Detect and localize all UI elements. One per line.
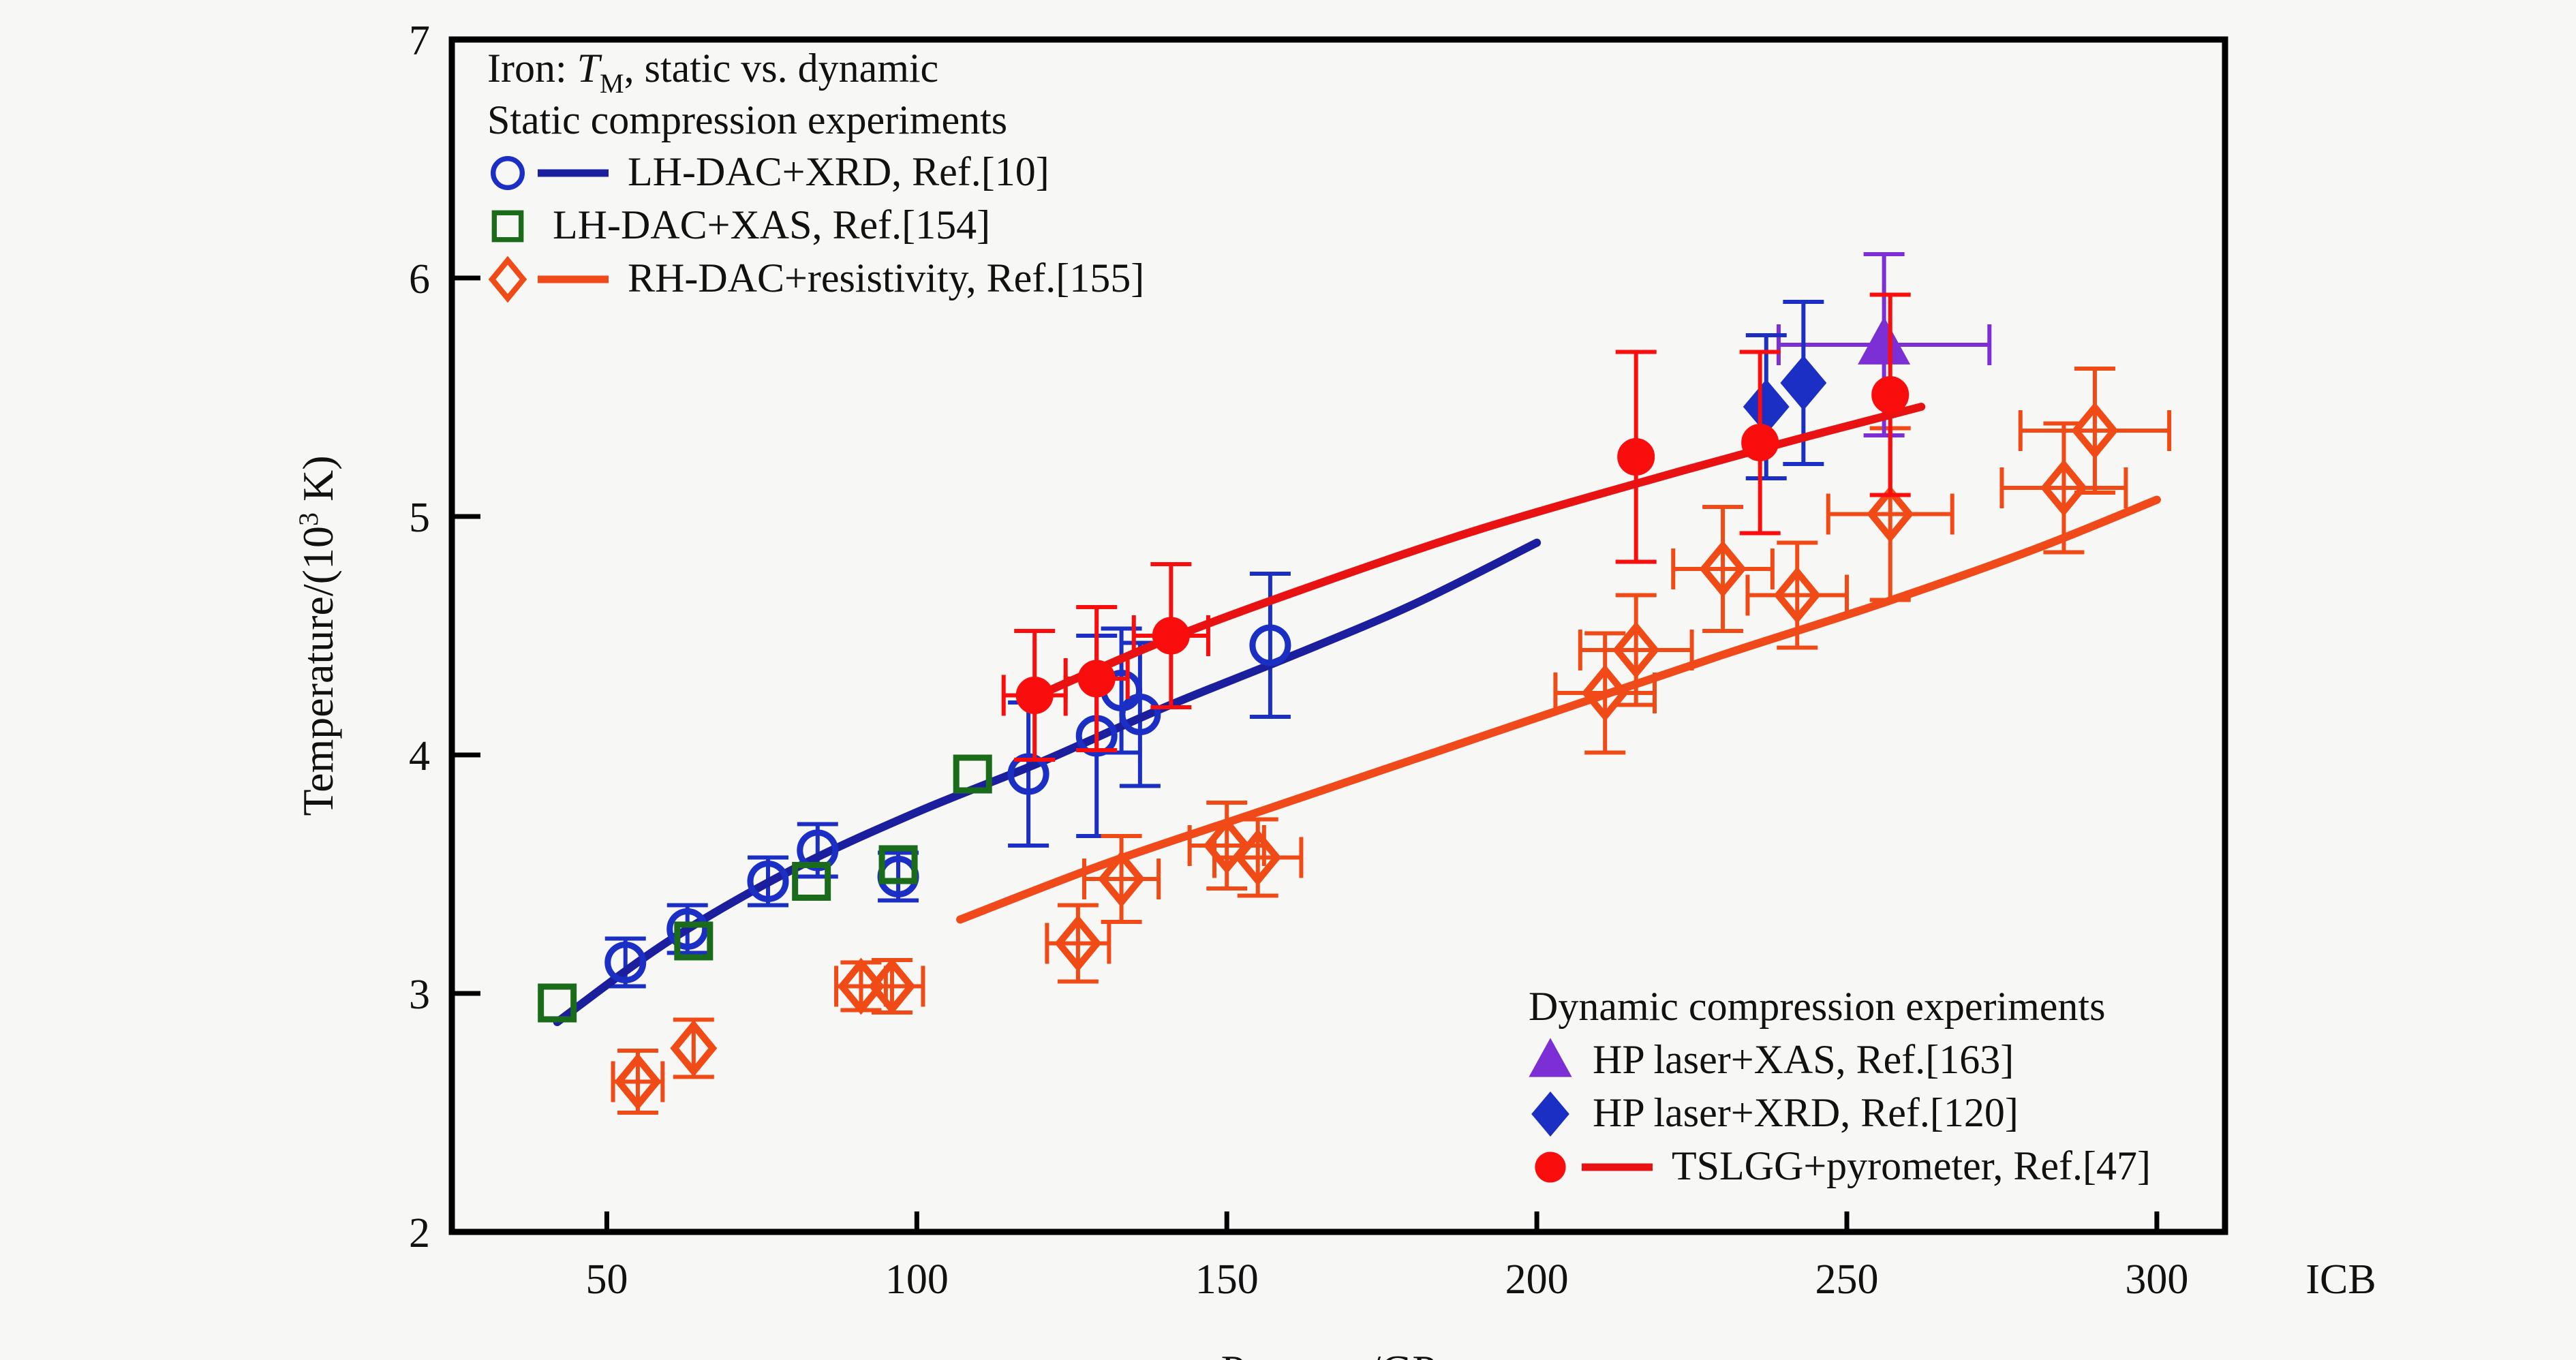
legend-dynamic-heading: Dynamic compression experiments <box>1529 984 2105 1029</box>
data-point <box>1017 678 1052 713</box>
y-tick-label: 5 <box>409 495 430 541</box>
y-tick-label: 4 <box>409 733 430 779</box>
x-tick-label: 150 <box>1195 1256 1259 1303</box>
legend-marker-filled-circle <box>1536 1153 1565 1182</box>
x-tick-label: 200 <box>1505 1256 1569 1303</box>
legend-static-entry-label: LH-DAC+XAS, Ref.[154] <box>553 202 990 247</box>
data-point <box>1153 618 1189 653</box>
x-tick-label: 50 <box>585 1256 628 1303</box>
y-tick-label: 7 <box>409 18 430 64</box>
y-axis-title: Temperature/(103 K) <box>293 455 342 816</box>
data-point <box>1743 425 1778 461</box>
data-point <box>1079 661 1114 696</box>
chart-canvas: 50100150200250300ICB234567Pressure/GPaTe… <box>0 0 2576 1360</box>
legend-static-entry-label: LH-DAC+XRD, Ref.[10] <box>628 149 1049 194</box>
legend-dynamic-entry-label: TSLGG+pyrometer, Ref.[47] <box>1672 1143 2151 1188</box>
legend-dynamic-entry-label: HP laser+XAS, Ref.[163] <box>1593 1037 2014 1082</box>
y-tick-label: 3 <box>409 972 430 1018</box>
data-point <box>1619 439 1654 475</box>
y-tick-label: 2 <box>409 1210 430 1256</box>
x-axis-title: Pressure/GPa <box>1221 1346 1456 1360</box>
legend-dynamic-entry-label: HP laser+XRD, Ref.[120] <box>1593 1090 2019 1135</box>
legend-static-heading: Static compression experiments <box>487 97 1007 142</box>
x-axis-icb-label: ICB <box>2305 1256 2376 1303</box>
x-tick-label: 300 <box>2125 1256 2188 1303</box>
x-tick-label: 100 <box>885 1256 949 1303</box>
x-tick-label: 250 <box>1815 1256 1879 1303</box>
legend-static-entry-label: RH-DAC+resistivity, Ref.[155] <box>628 256 1144 300</box>
data-point <box>1873 377 1908 413</box>
figure-container: 50100150200250300ICB234567Pressure/GPaTe… <box>0 0 2576 1360</box>
y-tick-label: 6 <box>409 256 430 303</box>
figure-background <box>0 0 2576 1360</box>
